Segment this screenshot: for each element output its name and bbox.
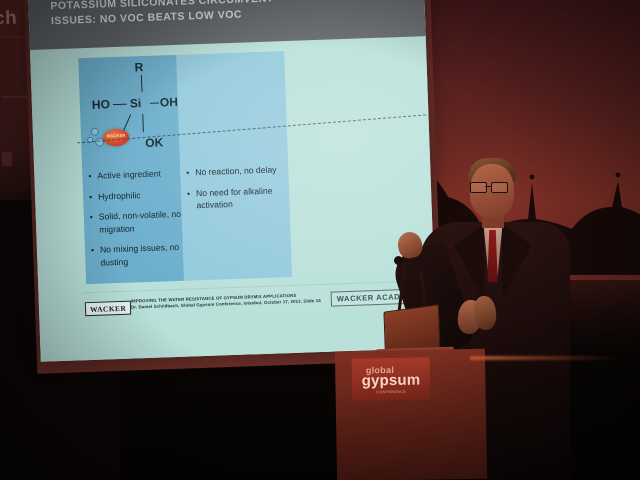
list-item: Solid, non-volatile, no migration	[99, 208, 183, 236]
list-item: Hydrophilic	[98, 187, 181, 202]
chemical-structure-diagram: R HO Si OH OK WACKER	[78, 51, 288, 168]
podium-sign: global gypsum CONFERENCE	[352, 357, 431, 400]
chem-label-si: Si	[130, 96, 142, 110]
chem-bond	[113, 104, 127, 106]
presentation-photo: ch POTASSIUM SILICONATES CIRCUMVENT I	[0, 0, 640, 480]
podium-light-strip	[470, 356, 620, 360]
particle-dot	[91, 128, 99, 136]
microphone-head-icon	[394, 256, 403, 265]
bullet-list-left: Active ingredient Hydrophilic Solid, non…	[88, 167, 184, 277]
list-item: No reaction, no delay	[195, 163, 286, 179]
eyeglasses-icon	[470, 182, 510, 191]
bullet-list-right: No reaction, no delay No need for alkali…	[186, 163, 288, 220]
sign-line-conference: CONFERENCE	[376, 389, 406, 394]
chem-bond	[142, 114, 144, 132]
chem-bond	[141, 75, 143, 92]
list-item: Active ingredient	[97, 167, 180, 182]
chem-bond	[150, 102, 159, 104]
slide-title: POTASSIUM SILICONATES CIRCUMVENT ISSUES:…	[50, 0, 381, 29]
chem-label-r: R	[134, 60, 143, 74]
footer-text: IMPROVING THE WATER RESISTANCE OF GYPSUM…	[131, 292, 321, 311]
sign-line-global: global	[366, 364, 394, 374]
banner-partial-text: ch	[0, 8, 17, 31]
slide-title-bar: POTASSIUM SILICONATES CIRCUMVENT ISSUES:…	[28, 0, 426, 50]
banner-rule	[2, 152, 12, 166]
list-item: No mixing issues, no dusting	[100, 241, 184, 269]
projection-screen: POTASSIUM SILICONATES CIRCUMVENT ISSUES:…	[28, 0, 437, 362]
wacker-logo: WACKER	[85, 301, 132, 317]
presentation-slide: POTASSIUM SILICONATES CIRCUMVENT ISSUES:…	[28, 0, 437, 362]
list-item: No need for alkaline activation	[196, 184, 288, 212]
chem-label-ho: HO	[92, 97, 110, 112]
chem-label-oh: OH	[160, 95, 178, 110]
